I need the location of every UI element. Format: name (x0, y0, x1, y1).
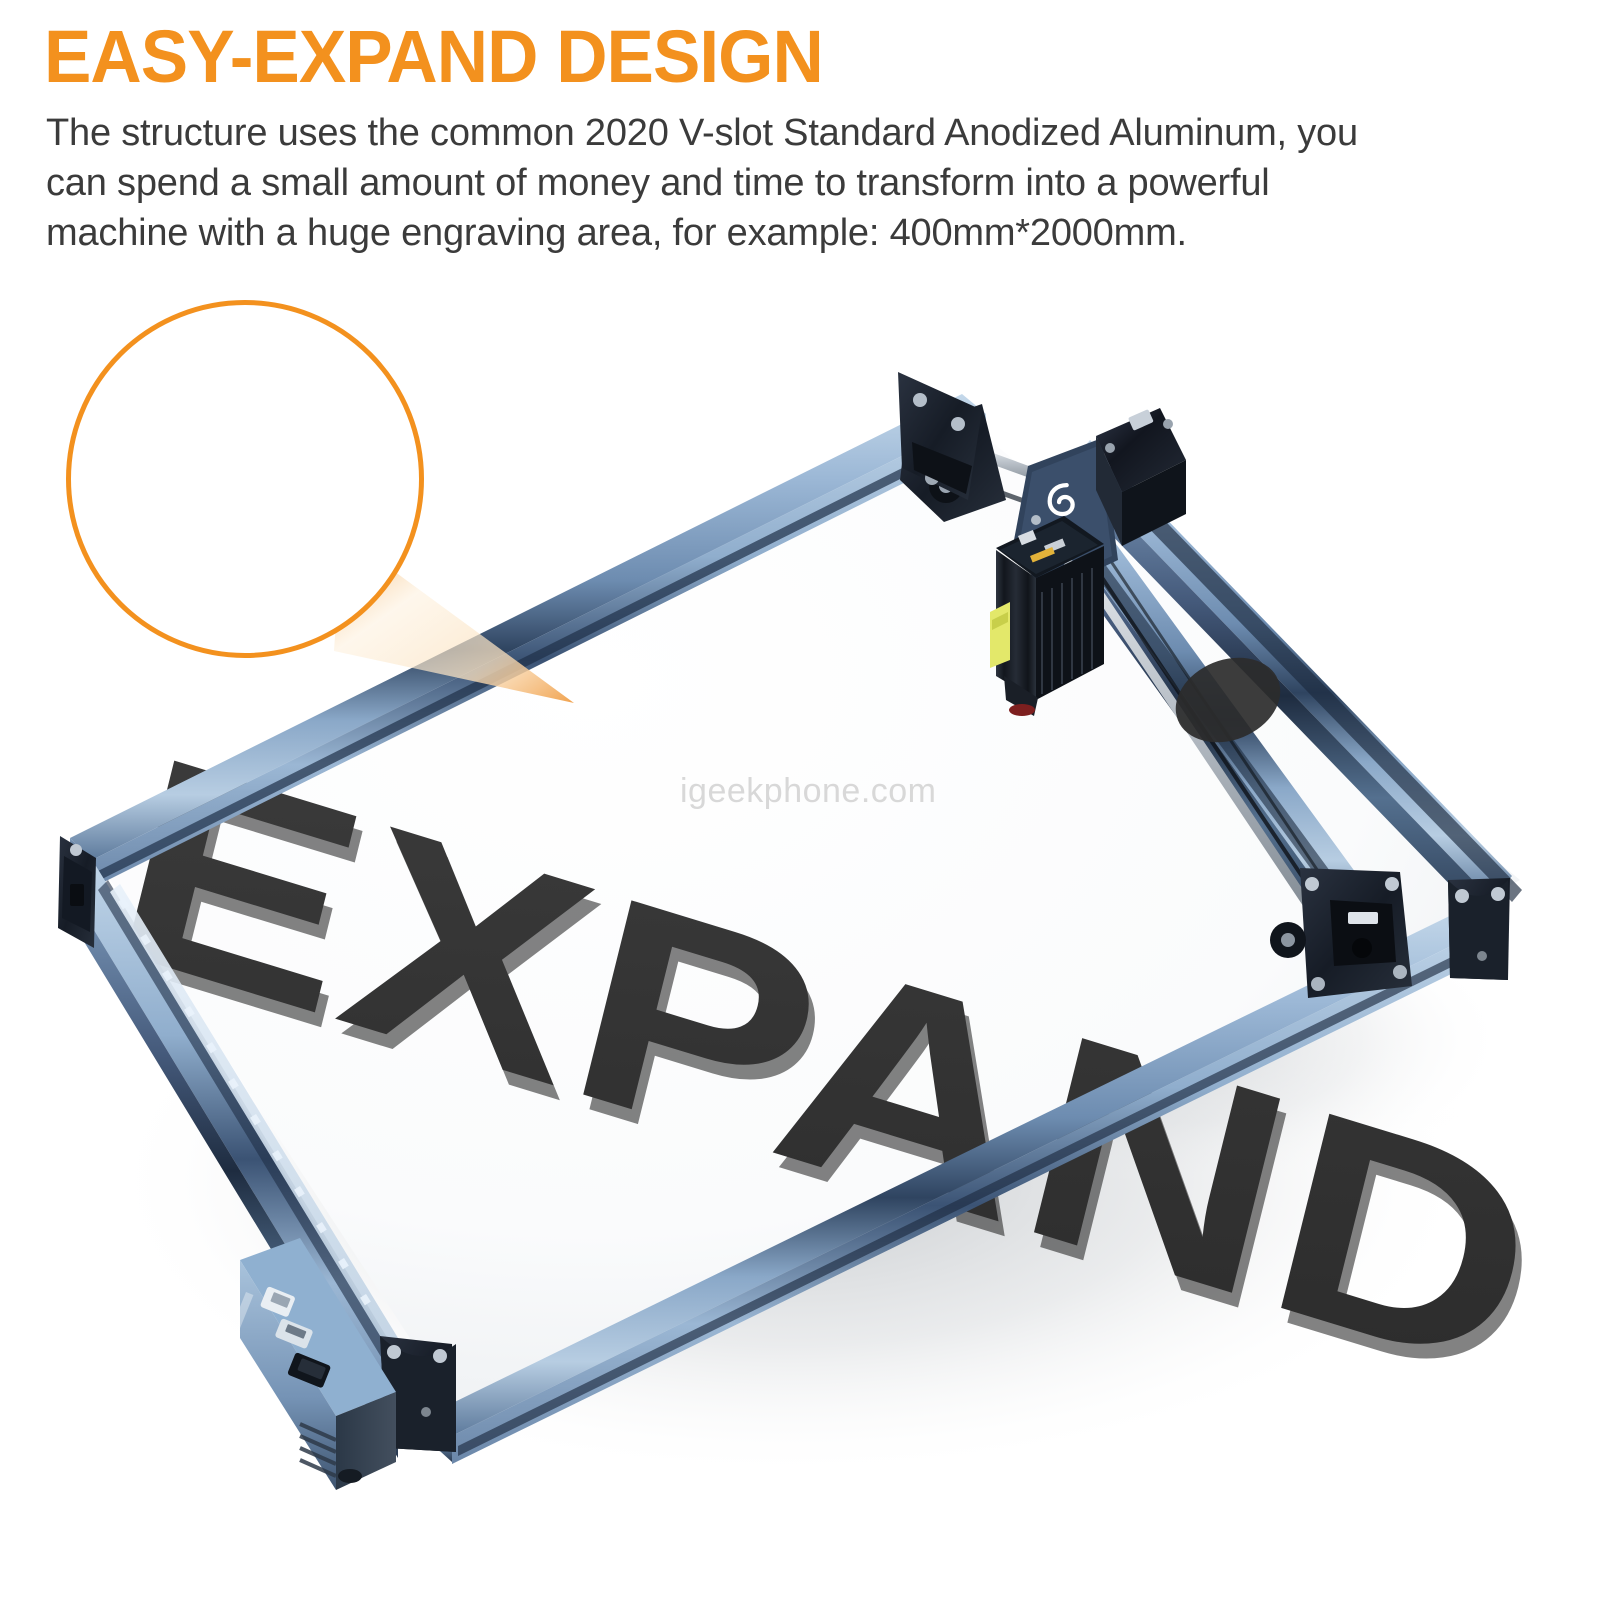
inset-circle-ring (66, 300, 424, 658)
corner-bracket-back-right (1448, 878, 1510, 980)
vslot-zoom-inset (66, 300, 424, 658)
laser-warning-label (990, 602, 1010, 668)
product-feature-page: EASY-EXPAND DESIGN The structure uses th… (0, 0, 1601, 1601)
limit-switch (70, 884, 84, 906)
site-watermark: igeekphone.com (680, 772, 937, 811)
